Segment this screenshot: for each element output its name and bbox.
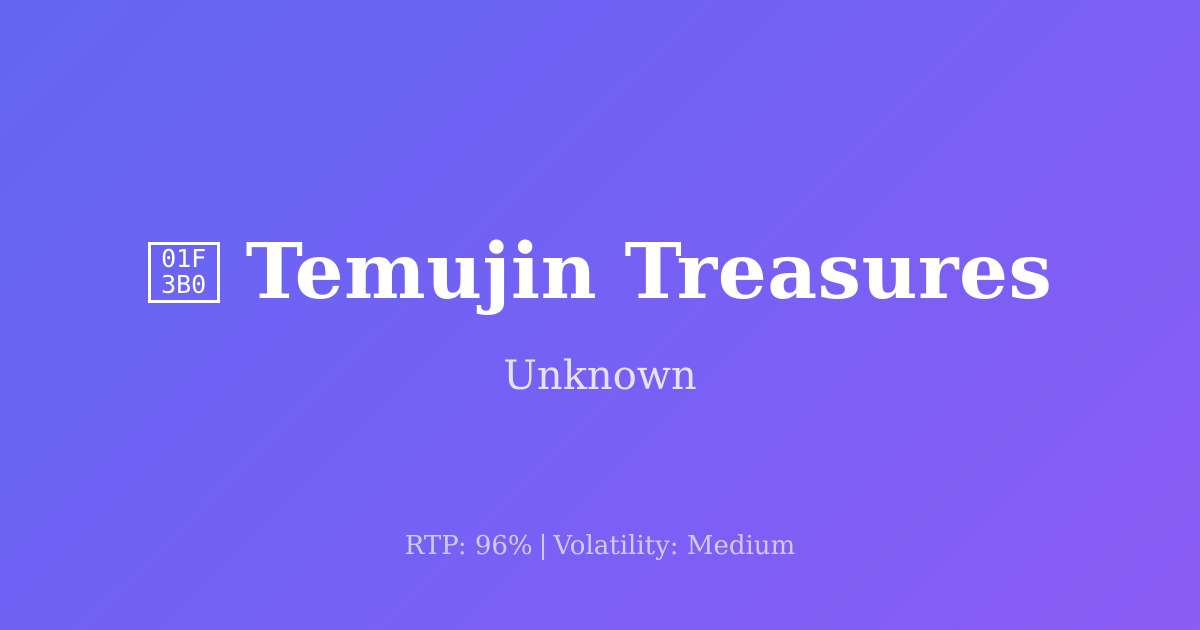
page-title: Temujin Treasures [246, 232, 1053, 313]
hero-title-row: 01F 3B0 Temujin Treasures [0, 232, 1200, 313]
volatility-label: Volatility: Medium [553, 531, 795, 561]
game-meta-footer: RTP: 96%|Volatility: Medium [0, 531, 1200, 562]
tofu-hex-line-bottom: 3B0 [161, 272, 206, 298]
slot-machine-emoji-tofu-icon: 01F 3B0 [148, 242, 220, 303]
tofu-hex-line-top: 01F [161, 246, 206, 272]
meta-separator: | [533, 531, 554, 561]
rtp-label: RTP: 96% [405, 531, 533, 561]
game-provider-subtitle: Unknown [503, 354, 697, 398]
game-banner-card: 01F 3B0 Temujin Treasures Unknown RTP: 9… [0, 0, 1200, 630]
